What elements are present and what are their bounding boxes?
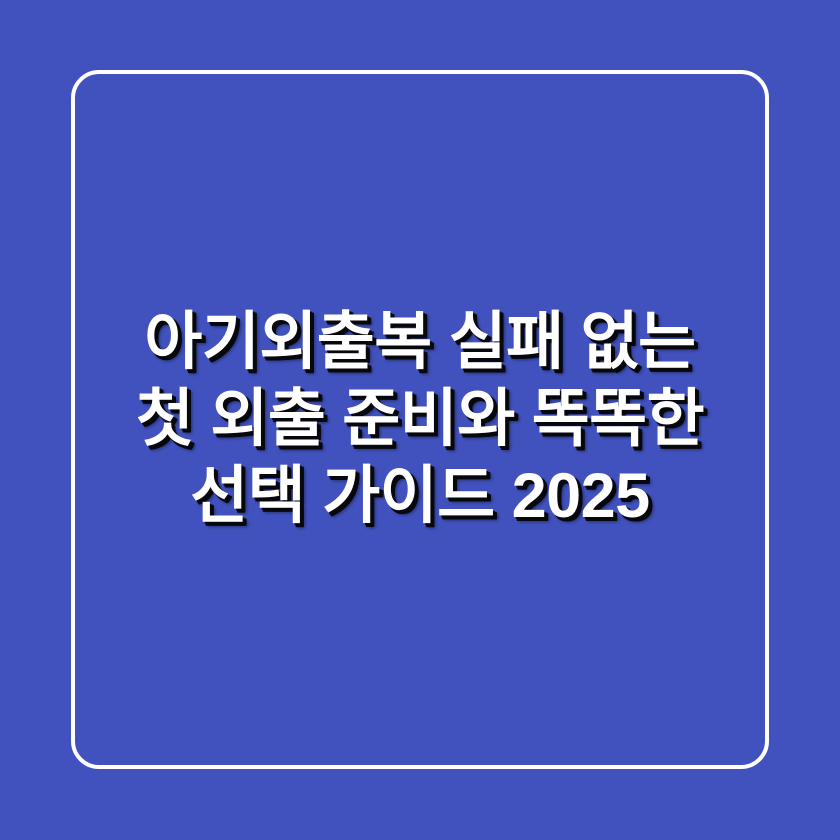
title-line-1: 아기외출복 실패 없는 <box>93 304 747 381</box>
thumbnail-canvas: 아기외출복 실패 없는 첫 외출 준비와 똑똑한 선택 가이드 2025 <box>0 0 840 840</box>
title-line-3: 선택 가이드 2025 <box>93 458 747 535</box>
title-line-2: 첫 외출 준비와 똑똑한 <box>93 381 747 458</box>
title-block: 아기외출복 실패 없는 첫 외출 준비와 똑똑한 선택 가이드 2025 <box>71 70 769 769</box>
